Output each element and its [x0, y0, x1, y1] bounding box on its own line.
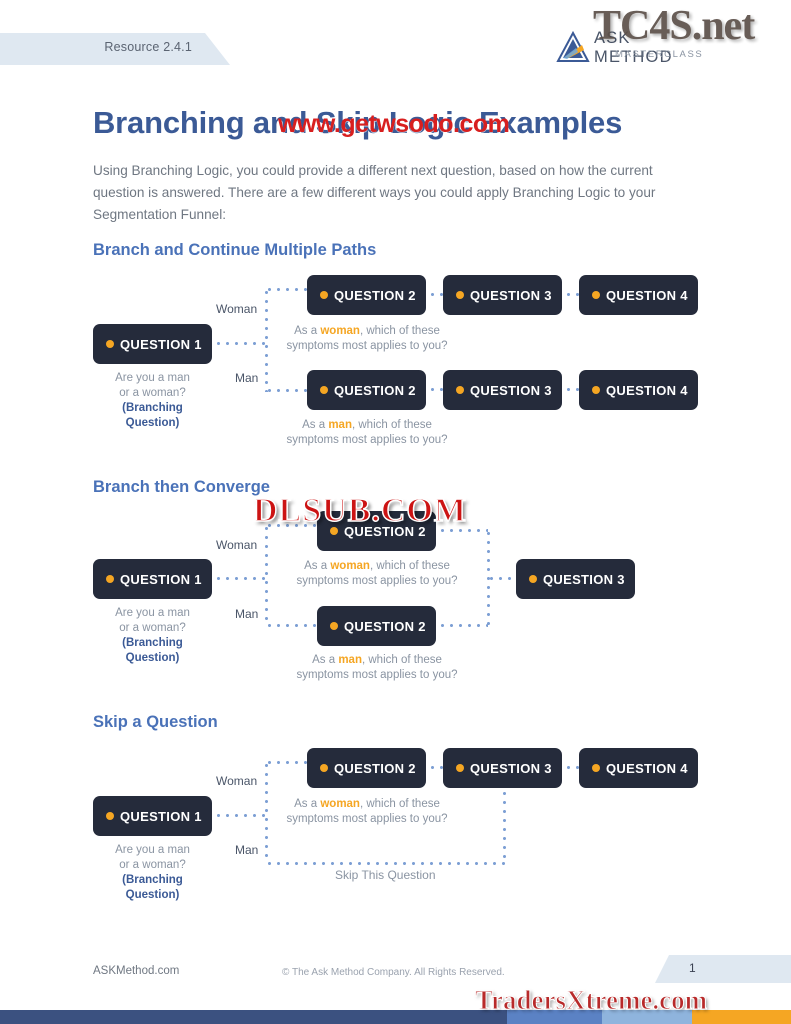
page-number-badge: 1 [655, 955, 791, 983]
section1-bottom-caption: As a man, which of these symptoms most a… [277, 418, 457, 448]
question-label: QUESTION 2 [334, 761, 416, 776]
bullet-dot-icon [320, 291, 328, 299]
bar-segment-3 [602, 1010, 692, 1024]
bar-segment-2 [507, 1010, 602, 1024]
section-heading-2: Branch then Converge [93, 478, 270, 497]
ask-method-logo: ASK METHOD MASTERCLASS [556, 28, 701, 70]
branch-label-man-2: Man [235, 607, 258, 621]
bullet-dot-icon [330, 527, 338, 535]
document-page: Resource 2.4.1 ASK METHOD MASTERCLASS Br… [0, 0, 791, 1024]
footer-copyright: © The Ask Method Company. All Rights Res… [282, 967, 505, 978]
resource-label: Resource 2.4.1 [104, 40, 192, 54]
section3-root-caption: Are you a man or a woman? (Branching Que… [93, 843, 212, 903]
question-label: QUESTION 1 [120, 809, 202, 824]
connector-root-out-3 [214, 814, 266, 817]
connector-skip-horizontal [265, 862, 505, 865]
section1-bottom-question4-box[interactable]: QUESTION 4 [579, 370, 698, 410]
skip-this-question-label: Skip This Question [335, 868, 436, 882]
bullet-dot-icon [456, 291, 464, 299]
section2-bottom-question2-box[interactable]: QUESTION 2 [317, 606, 436, 646]
branch-label-woman-1: Woman [216, 302, 257, 316]
section1-top-caption: As a woman, which of these symptoms most… [277, 324, 457, 354]
section-heading-3: Skip a Question [93, 713, 218, 732]
section1-question1-box[interactable]: QUESTION 1 [93, 324, 212, 364]
page-title: Branching and Skip Logic Examples [93, 105, 622, 141]
section1-top-question2-box[interactable]: QUESTION 2 [307, 275, 426, 315]
bar-segment-4 [692, 1010, 791, 1024]
connector-to-q2-top-2 [265, 524, 317, 527]
triangle-logo-icon [556, 31, 590, 63]
footer-color-bar [0, 1010, 791, 1024]
connector-root-out-2 [214, 577, 266, 580]
question-label: QUESTION 3 [470, 761, 552, 776]
section3-question2-box[interactable]: QUESTION 2 [307, 748, 426, 788]
connector-root-out-1 [214, 342, 266, 345]
branch-label-man-1: Man [235, 371, 258, 385]
section3-question1-box[interactable]: QUESTION 1 [93, 796, 212, 836]
section2-question1-box[interactable]: QUESTION 1 [93, 559, 212, 599]
section1-top-question4-box[interactable]: QUESTION 4 [579, 275, 698, 315]
connector-skip-vertical [503, 789, 506, 864]
connector-q2top-converge [438, 529, 488, 532]
question-label: QUESTION 4 [606, 761, 688, 776]
question-label: QUESTION 1 [120, 572, 202, 587]
question-label: QUESTION 2 [344, 524, 426, 539]
branch-label-woman-2: Woman [216, 538, 257, 552]
intro-paragraph: Using Branching Logic, you could provide… [93, 160, 693, 226]
branch-label-woman-3: Woman [216, 774, 257, 788]
logo-title: ASK METHOD [594, 29, 701, 67]
section3-question4-box[interactable]: QUESTION 4 [579, 748, 698, 788]
connector-vertical-3 [265, 761, 268, 863]
bullet-dot-icon [106, 812, 114, 820]
connector-vertical-2 [265, 524, 268, 626]
bullet-dot-icon [106, 575, 114, 583]
section2-top-caption: As a woman, which of these symptoms most… [287, 559, 467, 589]
section3-top-caption: As a woman, which of these symptoms most… [277, 797, 457, 827]
question-label: QUESTION 3 [470, 383, 552, 398]
bullet-dot-icon [330, 622, 338, 630]
bullet-dot-icon [592, 291, 600, 299]
question-label: QUESTION 2 [334, 288, 416, 303]
logo-subtitle: MASTERCLASS [615, 49, 703, 60]
connector-q2bottom-converge [438, 624, 488, 627]
question-label: QUESTION 2 [334, 383, 416, 398]
question-label: QUESTION 4 [606, 383, 688, 398]
section2-root-caption: Are you a man or a woman? (Branching Que… [93, 606, 212, 666]
bullet-dot-icon [592, 386, 600, 394]
bullet-dot-icon [320, 764, 328, 772]
connector-vertical-1 [265, 288, 268, 392]
connector-converge-out [487, 577, 519, 580]
question-label: QUESTION 1 [120, 337, 202, 352]
question-label: QUESTION 3 [543, 572, 625, 587]
question-label: QUESTION 3 [470, 288, 552, 303]
bullet-dot-icon [456, 386, 464, 394]
section3-question3-box[interactable]: QUESTION 3 [443, 748, 562, 788]
section2-bottom-caption: As a man, which of these symptoms most a… [287, 653, 467, 683]
question-label: QUESTION 4 [606, 288, 688, 303]
section1-bottom-question3-box[interactable]: QUESTION 3 [443, 370, 562, 410]
footer-site: ASKMethod.com [93, 965, 179, 977]
section-heading-1: Branch and Continue Multiple Paths [93, 241, 376, 260]
bullet-dot-icon [320, 386, 328, 394]
section2-question3-box[interactable]: QUESTION 3 [516, 559, 635, 599]
bar-segment-1 [0, 1010, 507, 1024]
connector-to-q2-bottom-2 [265, 624, 317, 627]
bullet-dot-icon [529, 575, 537, 583]
bullet-dot-icon [592, 764, 600, 772]
resource-tab: Resource 2.4.1 [0, 33, 230, 65]
branch-label-man-3: Man [235, 843, 258, 857]
bullet-dot-icon [106, 340, 114, 348]
section1-bottom-question2-box[interactable]: QUESTION 2 [307, 370, 426, 410]
page-number: 1 [689, 961, 696, 975]
question-label: QUESTION 2 [344, 619, 426, 634]
section1-top-question3-box[interactable]: QUESTION 3 [443, 275, 562, 315]
bullet-dot-icon [456, 764, 464, 772]
section1-root-caption: Are you a man or a woman? (Branching Que… [93, 371, 212, 431]
section2-top-question2-box[interactable]: QUESTION 2 [317, 511, 436, 551]
